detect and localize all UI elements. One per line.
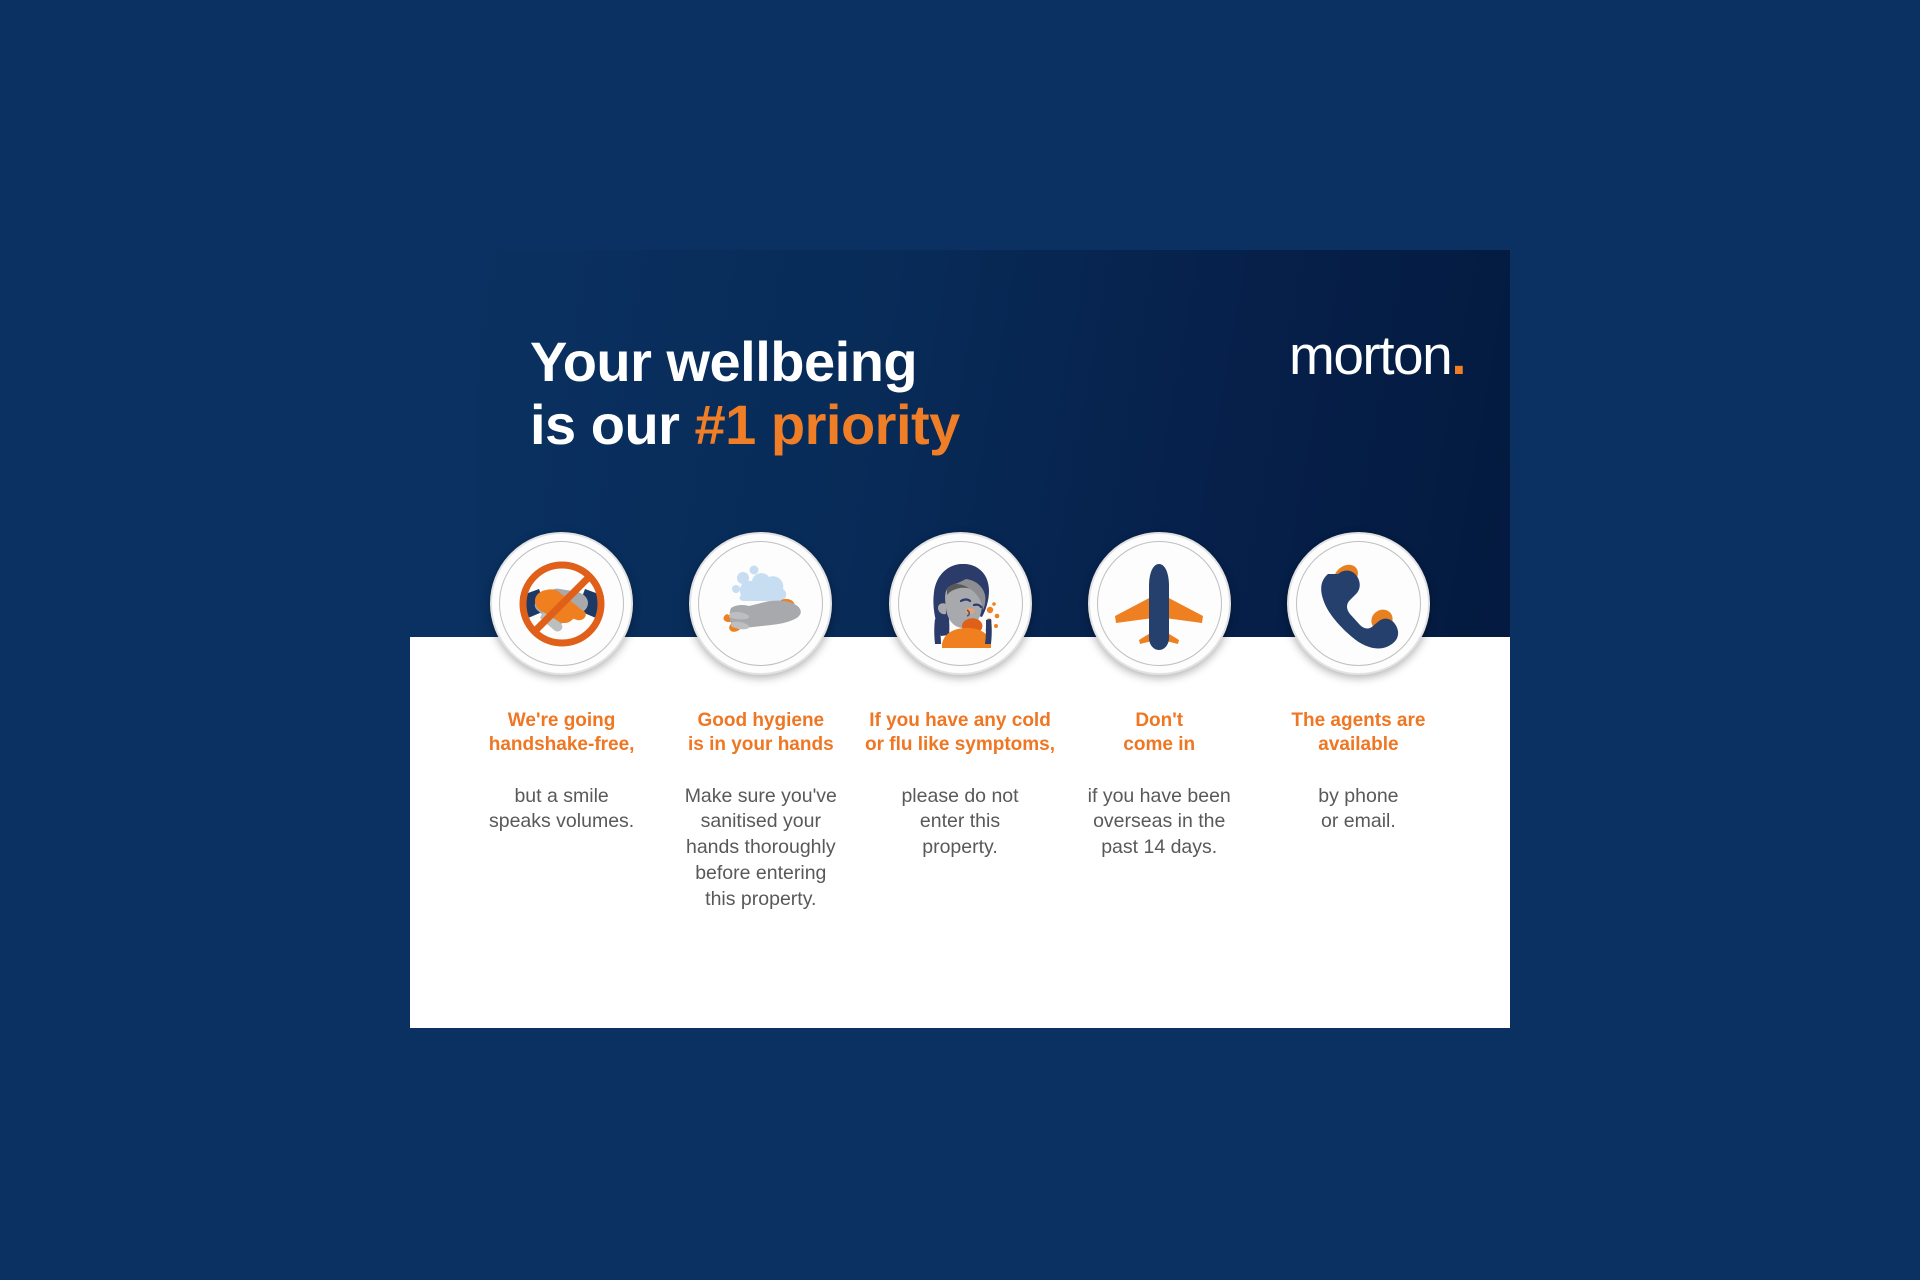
advice-column-handshake: We're going handshake-free, but a smile … [462,532,661,835]
advice-column-hygiene: Good hygiene is in your hands Make sure … [661,532,860,912]
telephone-handset-icon [1287,532,1430,675]
hero-title-line1: Your wellbeing [530,330,917,393]
brand-name-text: morton [1289,324,1451,386]
advice-heading: Don't come in [1123,709,1195,758]
advice-heading: Good hygiene is in your hands [688,709,834,758]
advice-heading: The agents are available [1291,709,1425,758]
advice-column-contact: The agents are available by phone or ema… [1259,532,1458,835]
sneezing-person-icon [889,532,1032,675]
advice-body: Make sure you've sanitised your hands th… [685,784,837,913]
hero-title-line2-plain: is our [530,393,695,456]
advice-column-travel: Don't come in if you have been overseas … [1060,532,1259,861]
morton-logo: morton. [1289,328,1465,383]
no-handshake-icon [490,532,633,675]
advice-columns: We're going handshake-free, but a smile … [410,532,1510,912]
advice-body: please do not enter this property. [901,784,1018,861]
advice-heading: We're going handshake-free, [489,709,635,758]
airplane-icon [1088,532,1231,675]
advice-body: by phone or email. [1318,784,1398,835]
advice-body: if you have been overseas in the past 14… [1088,784,1231,861]
wellbeing-poster: Your wellbeing is our #1 priority morton… [410,250,1510,1028]
advice-body: but a smile speaks volumes. [489,784,634,835]
advice-heading: If you have any cold or flu like symptom… [865,709,1055,758]
brand-dot: . [1451,324,1465,386]
hand-washing-icon [689,532,832,675]
advice-column-symptoms: If you have any cold or flu like symptom… [860,532,1059,861]
hero-title-line2-accent: #1 priority [695,393,960,456]
page-title: Your wellbeing is our #1 priority [530,330,960,457]
